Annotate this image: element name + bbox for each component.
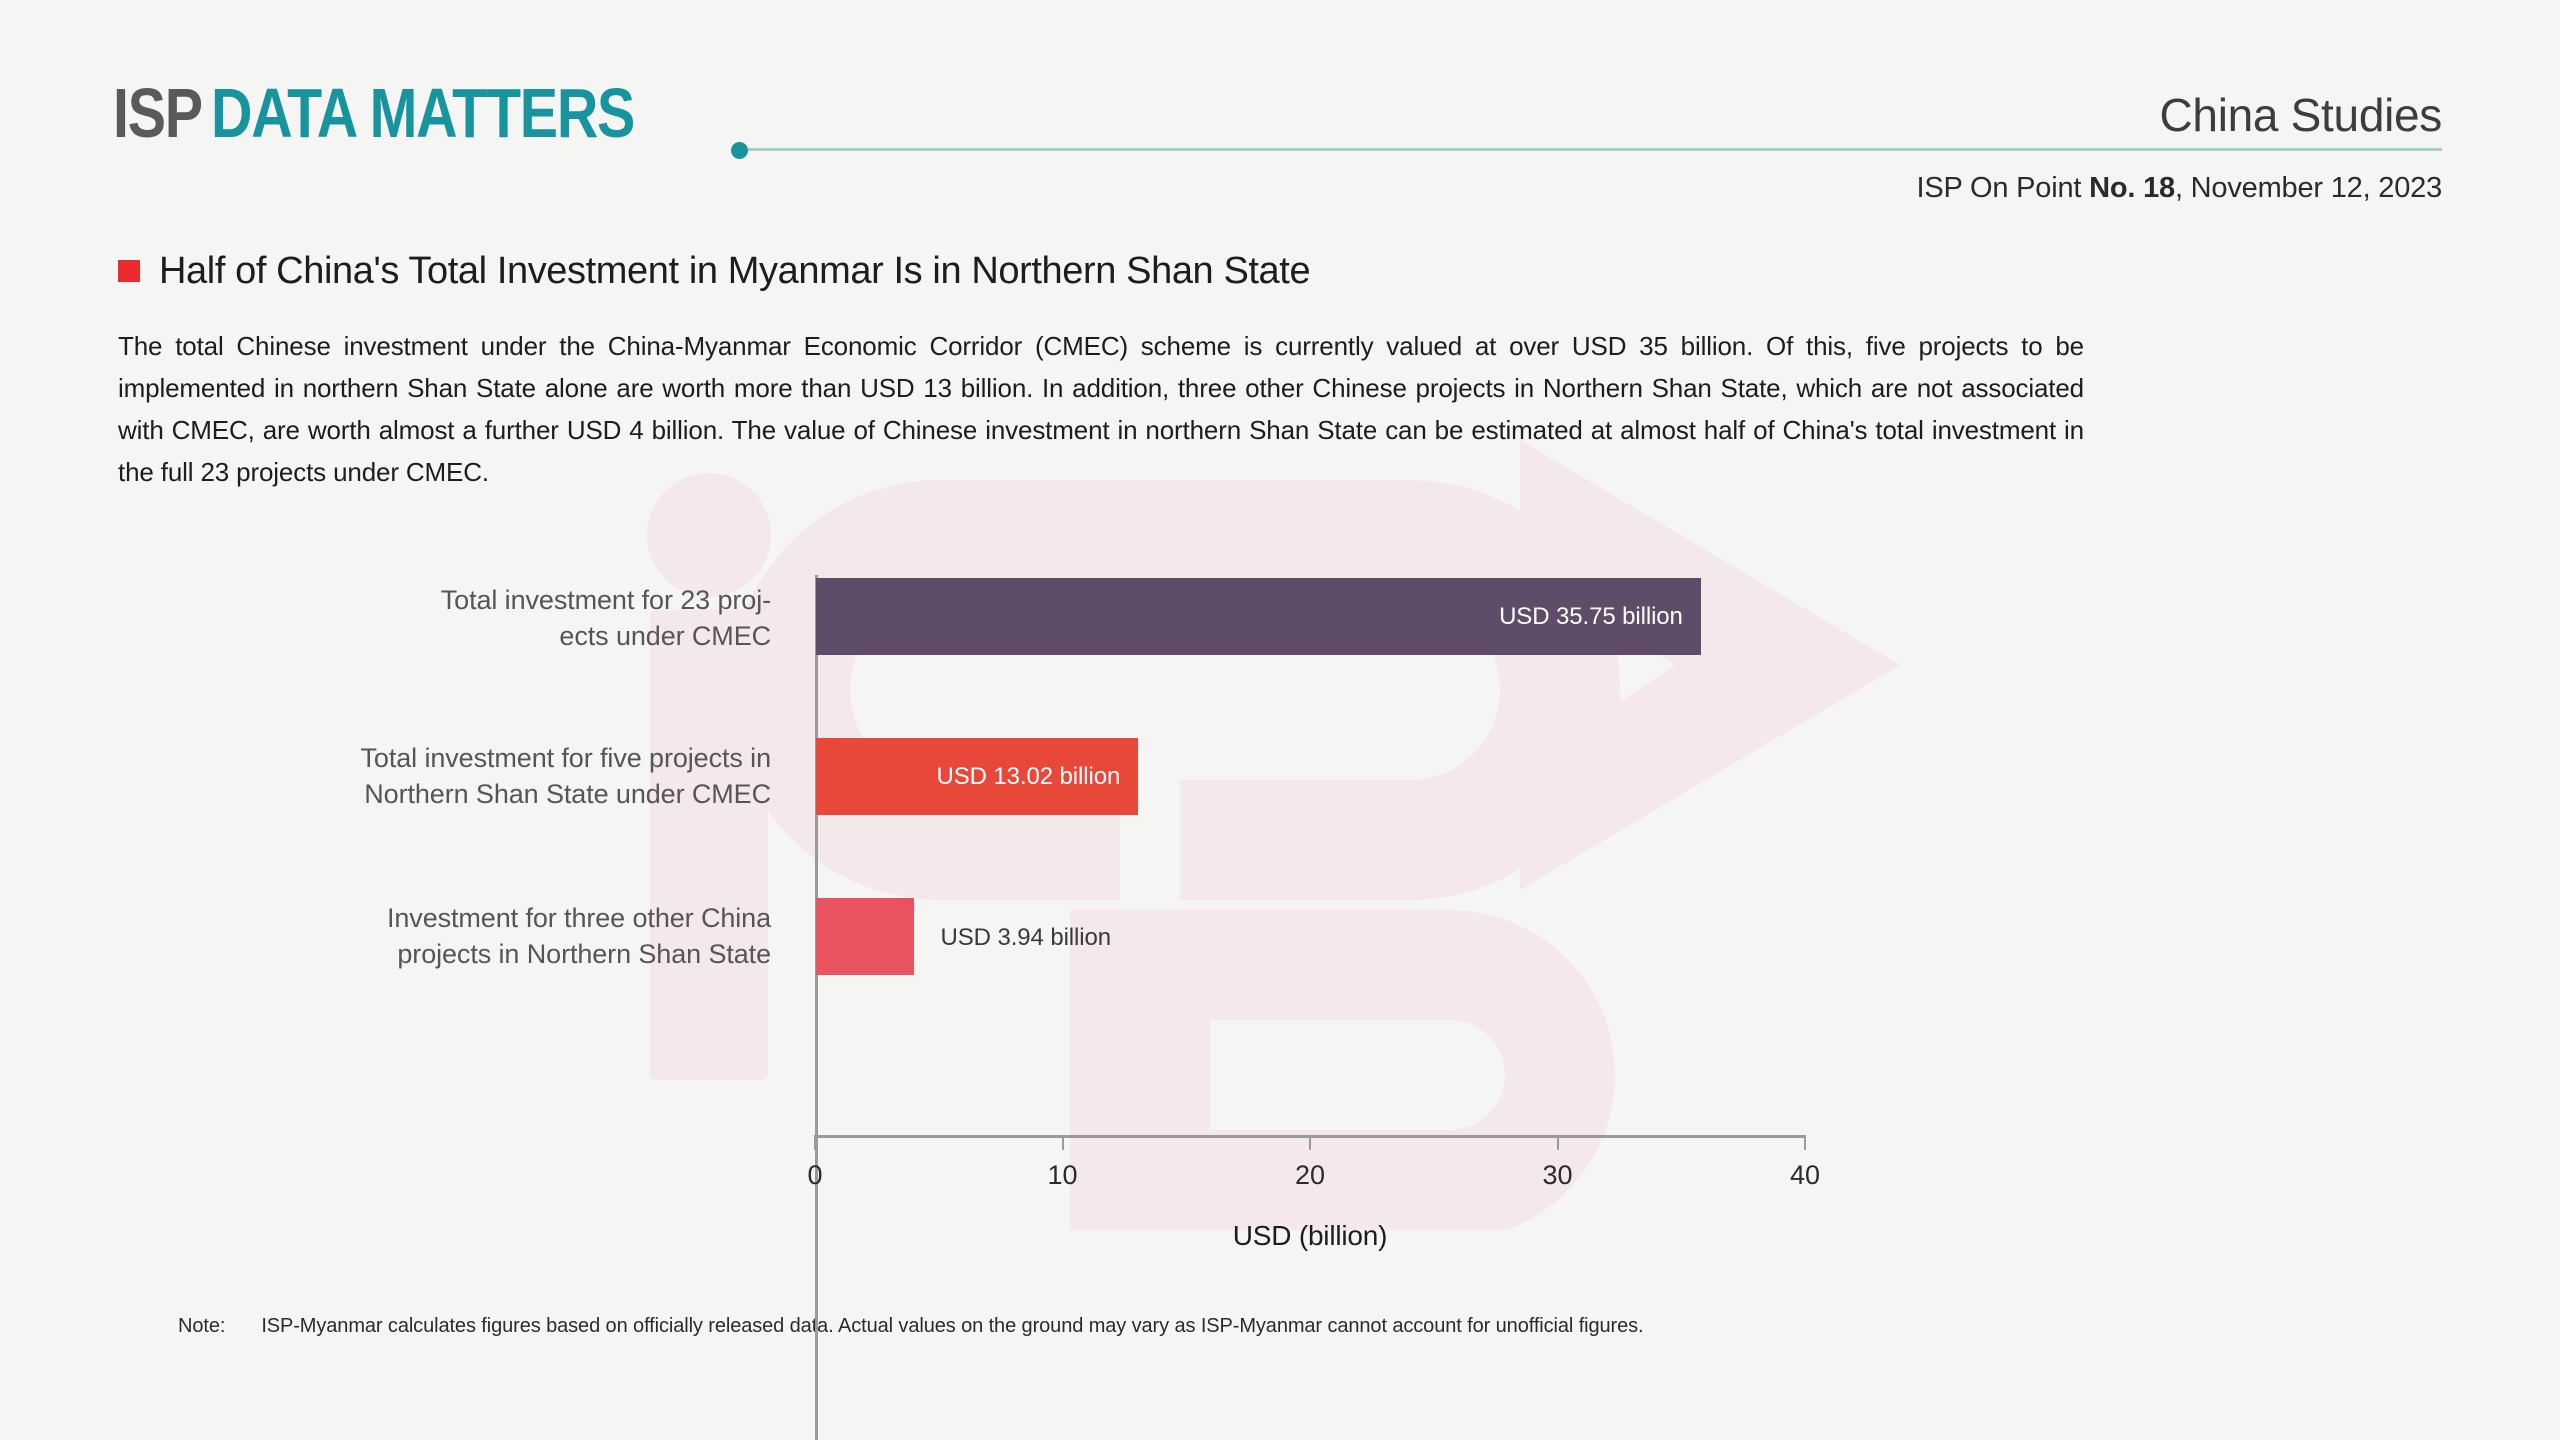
infographic-page: ISP DATA MATTERS China Studies ISP On Po…: [0, 0, 2560, 1440]
logo-isp-text: ISP: [113, 78, 202, 148]
headline-row: Half of China's Total Investment in Myan…: [118, 252, 1310, 290]
header-divider: [748, 148, 2442, 151]
body-paragraph: The total Chinese investment under the C…: [118, 325, 2084, 493]
issue-date: , November 12, 2023: [2175, 172, 2442, 204]
bar-category-label: Total investment for 23 proj- ects under…: [441, 582, 771, 654]
logo-data-matters-text: DATA MATTERS: [211, 78, 634, 148]
bar-value-label: USD 13.02 billion: [936, 763, 1120, 791]
bar[interactable]: USD 35.75 billion: [816, 578, 1701, 655]
x-axis-title: USD (billion): [815, 1220, 1805, 1252]
issue-line: ISP On Point No. 18, November 12, 2023: [1917, 172, 2442, 205]
bar-category-label: Investment for three other China project…: [387, 900, 771, 972]
x-tick-label: 40: [1790, 1160, 1820, 1191]
red-square-bullet-icon: [118, 260, 140, 282]
issue-number: No. 18: [2089, 172, 2175, 204]
x-tick-mark: [1804, 1135, 1806, 1150]
page-header: ISP DATA MATTERS China Studies ISP On Po…: [0, 0, 2560, 215]
x-tick-label: 0: [807, 1160, 822, 1191]
x-tick-mark: [1062, 1135, 1064, 1150]
section-title: China Studies: [2160, 88, 2443, 142]
x-tick-mark: [1557, 1135, 1559, 1150]
bar[interactable]: USD 13.02 billion: [816, 738, 1138, 815]
chart-note: Note: ISP-Myanmar calculates figures bas…: [178, 1315, 1643, 1338]
x-tick-label: 20: [1295, 1160, 1325, 1191]
note-text: ISP-Myanmar calculates figures based on …: [261, 1315, 1643, 1338]
bar[interactable]: [816, 898, 914, 975]
bar-value-label: USD 3.94 billion: [941, 924, 1112, 952]
y-axis: [815, 575, 818, 1440]
x-tick-label: 10: [1047, 1160, 1077, 1191]
x-tick-mark: [814, 1135, 816, 1150]
bar-value-label: USD 35.75 billion: [1499, 603, 1683, 631]
x-tick-label: 30: [1542, 1160, 1572, 1191]
bar-category-label: Total investment for five projects in No…: [361, 740, 771, 812]
isp-data-matters-logo: ISP DATA MATTERS: [113, 78, 727, 148]
note-label: Note:: [178, 1315, 225, 1338]
issue-prefix: ISP On Point: [1917, 172, 2090, 204]
bar-chart: 010203040 Total investment for 23 proj- …: [0, 560, 2560, 1260]
page-title: Half of China's Total Investment in Myan…: [159, 252, 1310, 290]
logo-dot-icon: [731, 142, 748, 159]
x-tick-mark: [1309, 1135, 1311, 1150]
